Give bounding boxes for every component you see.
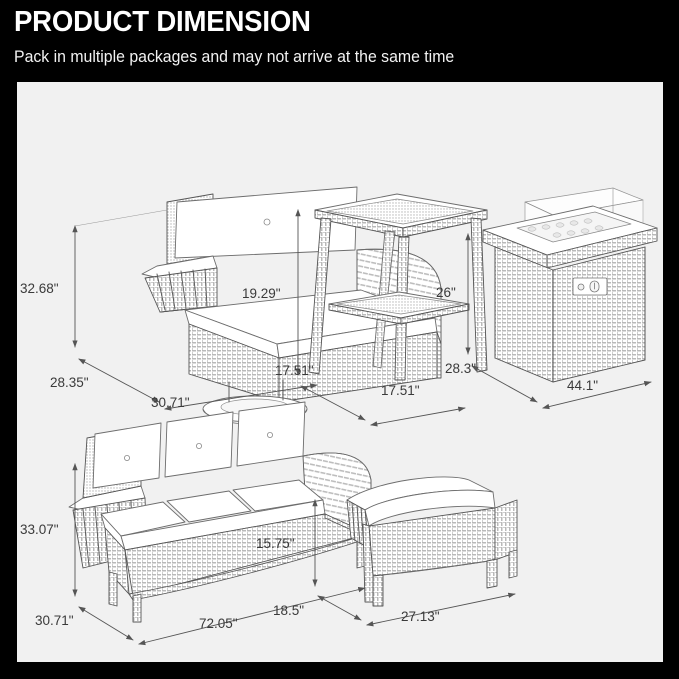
sofa-depth-label: 30.71" bbox=[35, 613, 74, 628]
table-height-label: 19.29" bbox=[242, 286, 281, 301]
chair-width-label: 30.71" bbox=[151, 395, 190, 410]
firepit-height-label: 26" bbox=[436, 285, 456, 300]
firepit-width-label: 44.1" bbox=[567, 378, 598, 393]
ottoman-height-label: 15.75" bbox=[256, 536, 295, 551]
table-width-label: 17.51" bbox=[381, 383, 420, 398]
dimension-diagram-panel: 32.68" 28.35" 30.71" 19.29" 17.51" 17.51… bbox=[17, 82, 663, 662]
page-subtitle: Pack in multiple packages and may not ar… bbox=[14, 48, 454, 67]
ottoman-depth-label: 18.5" bbox=[273, 603, 304, 618]
ottoman-width-label: 27.13" bbox=[401, 609, 440, 624]
table-depth-label: 17.51" bbox=[275, 363, 314, 378]
chair-depth-label: 28.35" bbox=[50, 375, 89, 390]
page-title: PRODUCT DIMENSION bbox=[14, 6, 311, 39]
product-dimension-page: PRODUCT DIMENSION Pack in multiple packa… bbox=[0, 0, 679, 679]
chair-height-label: 32.68" bbox=[20, 281, 59, 296]
sofa-width-label: 72.05" bbox=[199, 616, 238, 631]
firepit-depth-label: 28.3" bbox=[445, 361, 476, 376]
sofa-height-label: 33.07" bbox=[20, 522, 59, 537]
